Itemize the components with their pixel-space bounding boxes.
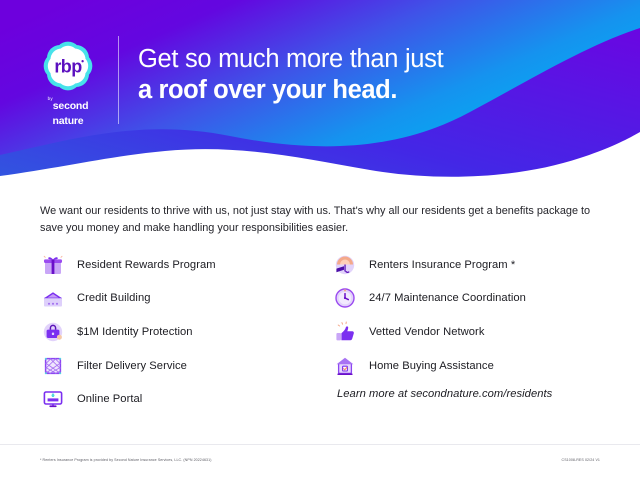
benefit-label: Renters Insurance Program * — [369, 259, 515, 271]
benefits-section: Resident Rewards Program Credit Building — [40, 248, 600, 416]
intro-paragraph: We want our residents to thrive with us,… — [40, 203, 592, 236]
learn-more-text: Learn more at secondnature.com/residents — [337, 388, 600, 400]
headline-line-1: Get so much more than just — [138, 44, 558, 75]
benefit-row-renters-insurance: Renters Insurance Program * — [332, 248, 600, 282]
credit-card-building-icon — [40, 285, 66, 311]
document-code: CS1008-RES 02/24 V1 — [562, 458, 600, 462]
header-banner: rbp bysecond nature Get so much more tha… — [0, 0, 640, 195]
benefit-row-identity-protection: $1M Identity Protection — [40, 315, 332, 349]
briefcase-shield-icon — [40, 319, 66, 345]
thumbs-up-icon — [332, 319, 358, 345]
svg-text:rbp: rbp — [54, 57, 82, 77]
logo-tagline-line1: second — [53, 101, 89, 112]
rbp-logo-mark: rbp — [38, 38, 98, 94]
footnote-disclaimer: * Renters Insurance Program is provided … — [40, 458, 211, 462]
benefit-label: 24/7 Maintenance Coordination — [369, 292, 526, 304]
desktop-monitor-icon — [40, 386, 66, 412]
rbp-badge-icon: rbp — [38, 38, 98, 94]
logo-tagline-line2: nature — [53, 116, 84, 127]
benefits-right-column: Renters Insurance Program * 24/7 Mainten… — [332, 248, 600, 416]
bottom-strip — [0, 472, 640, 480]
logo-tagline: bysecond nature — [48, 97, 89, 128]
benefit-row-resident-rewards: Resident Rewards Program — [40, 248, 332, 282]
benefit-row-online-portal: Online Portal — [40, 382, 332, 416]
headline-line-2: a roof over your head. — [138, 75, 558, 106]
benefit-label: Vetted Vendor Network — [369, 326, 484, 338]
benefit-label: Home Buying Assistance — [369, 360, 494, 372]
benefit-label: Credit Building — [77, 292, 151, 304]
gift-box-icon — [40, 252, 66, 278]
house-icon — [332, 353, 358, 379]
benefit-label: Filter Delivery Service — [77, 360, 187, 372]
benefit-row-home-buying-assistance: Home Buying Assistance — [332, 349, 600, 383]
rbp-logo: rbp bysecond nature — [30, 38, 106, 126]
benefit-label: Resident Rewards Program — [77, 259, 216, 271]
benefit-row-maintenance-coordination: 24/7 Maintenance Coordination — [332, 282, 600, 316]
clock-icon — [332, 285, 358, 311]
benefit-row-vetted-vendor-network: Vetted Vendor Network — [332, 315, 600, 349]
benefits-left-column: Resident Rewards Program Credit Building — [40, 248, 332, 416]
umbrella-icon — [332, 252, 358, 278]
benefit-label: $1M Identity Protection — [77, 326, 193, 338]
logo-divider — [118, 36, 119, 124]
headline: Get so much more than just a roof over y… — [138, 44, 558, 106]
footer-divider — [0, 444, 640, 445]
benefit-row-filter-delivery: Filter Delivery Service — [40, 349, 332, 383]
benefit-row-credit-building: Credit Building — [40, 282, 332, 316]
benefit-label: Online Portal — [77, 393, 142, 405]
air-filter-icon — [40, 353, 66, 379]
